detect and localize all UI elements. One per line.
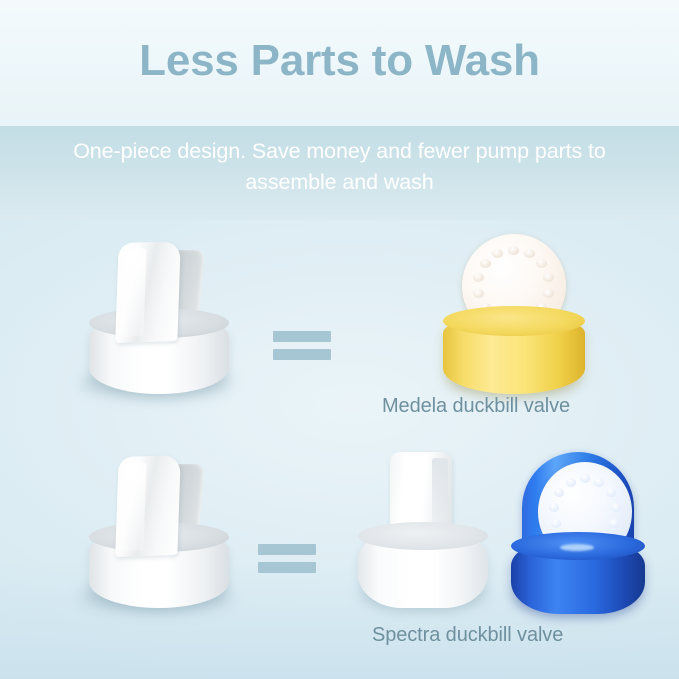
membrane-bump (508, 246, 519, 255)
duckbill-front-fin (115, 241, 181, 343)
membrane-bump (473, 289, 484, 298)
caption-medela-duckbill-valve: Medela duckbill valve (382, 395, 570, 418)
equals-bar-upper (273, 331, 331, 342)
one-piece-duckbill-valve-bottom (75, 452, 250, 627)
membrane-bump (594, 478, 604, 487)
page-title: Less Parts to Wash (0, 36, 679, 86)
membrane-bump (554, 488, 564, 497)
medela-duckbill-valve (430, 232, 600, 407)
spectra-white-duckbill-valve (352, 450, 502, 620)
spectra-valve-base-rim (358, 522, 488, 550)
membrane-bump (551, 519, 561, 528)
infographic-root: Less Parts to Wash One-piece design. Sav… (0, 0, 679, 679)
equals-bar-lower (273, 349, 331, 360)
membrane-bump (480, 259, 491, 268)
spectra-blue-backflow-protector (508, 452, 648, 622)
membrane-bump (536, 259, 547, 268)
membrane-bump (492, 249, 503, 258)
equals-sign-row-2 (258, 540, 316, 576)
equals-sign-row-1 (273, 327, 331, 363)
page-subtitle: One-piece design. Save money and fewer p… (60, 136, 620, 198)
membrane-bump (549, 503, 559, 512)
equals-bar-lower (258, 562, 316, 573)
membrane-bump (606, 488, 616, 497)
backflow-protector-highlight (560, 544, 594, 551)
equals-bar-upper (258, 544, 316, 555)
membrane-bump (543, 273, 554, 282)
one-piece-duckbill-valve-top (75, 238, 250, 413)
membrane-bump (566, 478, 576, 487)
membrane-bump (609, 519, 619, 528)
membrane-bump (580, 474, 590, 483)
membrane-bump (543, 289, 554, 298)
membrane-bump (611, 503, 621, 512)
duckbill-front-fin (115, 455, 181, 557)
caption-spectra-duckbill-valve: Spectra duckbill valve (372, 624, 563, 647)
membrane-bump (524, 249, 535, 258)
medela-yellow-base-rim (443, 306, 585, 336)
membrane-bump (473, 273, 484, 282)
